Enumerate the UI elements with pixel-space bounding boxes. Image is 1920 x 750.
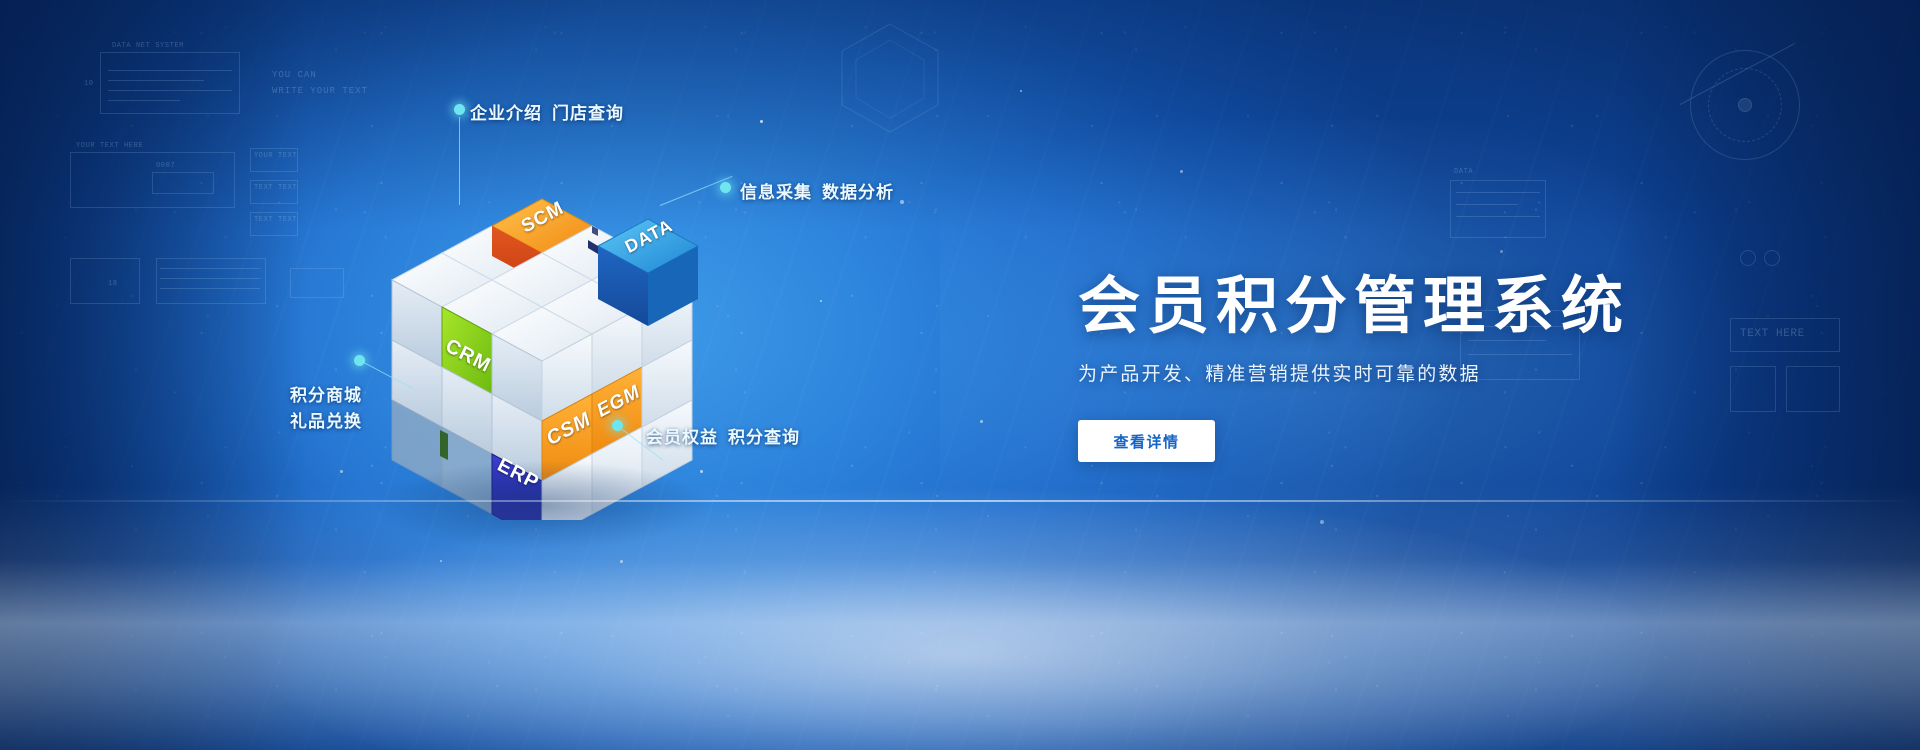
hud-label: YOUR TEXT HERE [76,142,143,150]
callout-dot-icon [720,182,731,193]
hexagon-decor-icon [830,18,950,138]
page-subtitle: 为产品开发、精准营销提供实时可靠的数据 [1078,359,1838,386]
hud-label: YOUR TEXT [254,152,297,160]
callout-dot-icon [354,355,365,366]
callout-dot-icon [454,104,465,115]
hud-label: 10 [84,80,94,88]
hud-label: 18 [108,280,118,288]
hud-label: WRITE YOUR TEXT [272,86,368,96]
hero-copy-block: 会员积分管理系统 为产品开发、精准营销提供实时可靠的数据 查看详情 [1078,272,1838,462]
page-title: 会员积分管理系统 [1078,272,1838,341]
hud-label: YOU CAN [272,70,317,80]
hud-label: 0007 [156,162,175,170]
callout-benefits-label: 会员权益积分查询 [646,423,800,448]
hud-label: TEXT TEXT [254,216,297,224]
hud-label: DATA NET SYSTEM [112,42,184,50]
callout-intro-label: 企业介绍门店查询 [470,99,624,124]
callout-data-label: 信息采集数据分析 [740,178,894,203]
hud-label: DATA [1454,168,1473,176]
rubiks-cube-graphic: SCM CRM DATA ERP CSM EGM [352,160,732,520]
callout-mall-label: 积分商城礼品兑换 [290,383,420,434]
hud-label: TEXT TEXT [254,184,297,192]
callout-dot-icon [612,420,623,431]
hero-banner: DATA NET SYSTEM 10 YOUR TEXT HERE 0007 Y… [0,0,1920,750]
view-details-button[interactable]: 查看详情 [1078,420,1215,462]
hud-decor-center: YOU CAN WRITE YOUR TEXT [272,60,432,110]
